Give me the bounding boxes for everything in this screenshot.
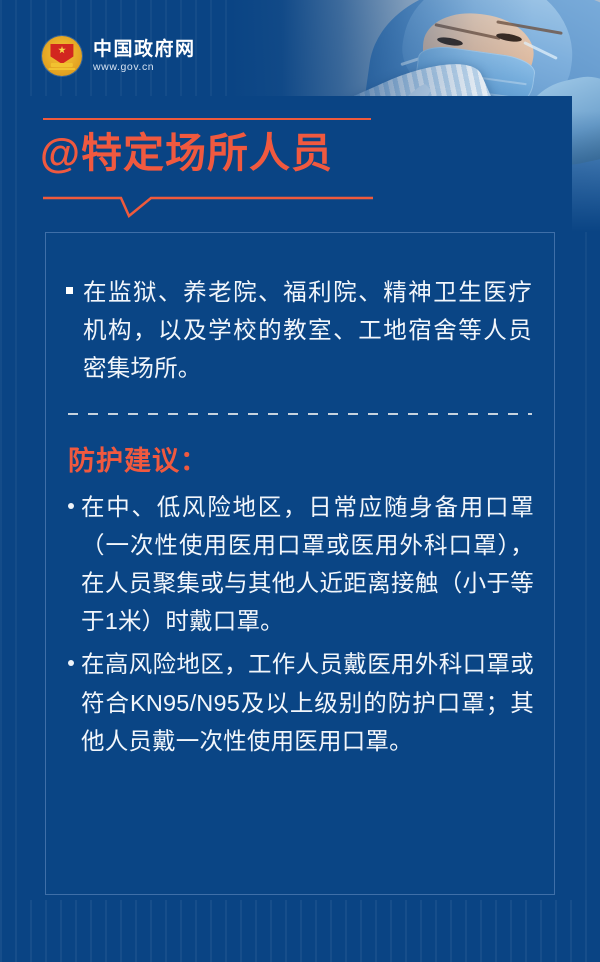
emblem-gate-bar-upper [51,63,73,67]
dot-bullet-icon [68,660,74,666]
title-rule-bottom [43,196,373,220]
poster-canvas: 中国政府网 www.gov.cn @特定场所人员 在监狱、养老院、福利院、精神卫… [0,0,600,962]
intro-paragraph-text: 在监狱、养老院、福利院、精神卫生医疗机构，以及学校的教室、工地宿舍等人员密集场所… [83,273,532,387]
intro-paragraph: 在监狱、养老院、福利院、精神卫生医疗机构，以及学校的教室、工地宿舍等人员密集场所… [66,273,532,387]
bottom-stripe-band [0,900,600,962]
dashed-divider [68,413,532,415]
logo-text-group: 中国政府网 www.gov.cn [93,40,196,72]
content-card: 在监狱、养老院、福利院、精神卫生医疗机构，以及学校的教室、工地宿舍等人员密集场所… [45,232,555,895]
dot-bullet-icon [68,503,74,509]
list-item-text: 在高风险地区，工作人员戴医用外科口罩或符合KN95/N95及以上级别的防护口罩；… [81,645,534,759]
site-url: www.gov.cn [93,62,196,73]
china-national-emblem-icon [42,36,82,76]
square-bullet-icon [66,287,73,294]
page-title: @特定场所人员 [40,131,333,176]
list-item: 在中、低风险地区，日常应随身备用口罩（一次性使用医用口罩或医用外科口罩），在人员… [68,488,534,640]
section-title: 防护建议： [68,439,554,478]
list-item: 在高风险地区，工作人员戴医用外科口罩或符合KN95/N95及以上级别的防护口罩；… [68,645,534,759]
recommendation-list: 在中、低风险地区，日常应随身备用口罩（一次性使用医用口罩或医用外科口罩），在人员… [68,488,534,759]
site-name: 中国政府网 [93,40,196,60]
site-logo[interactable]: 中国政府网 www.gov.cn [42,36,196,76]
list-item-text: 在中、低风险地区，日常应随身备用口罩（一次性使用医用口罩或医用外科口罩），在人员… [81,488,534,640]
speech-bubble-tail-icon [43,196,373,220]
title-rule-top [43,118,371,120]
emblem-gate-bar-lower [48,68,75,71]
